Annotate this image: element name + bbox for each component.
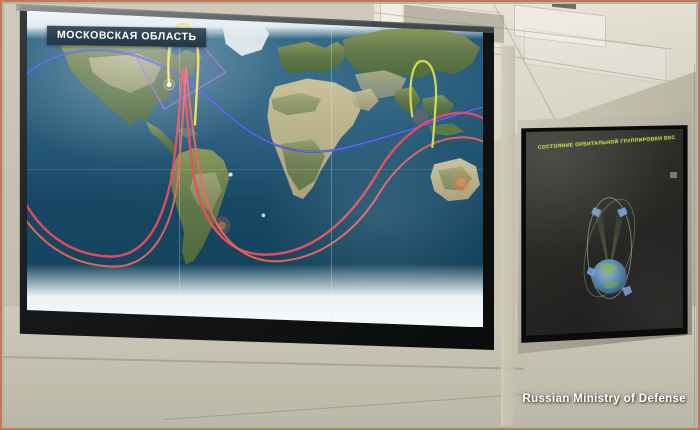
scene-root: МОСКОВСКАЯ ОБЛАСТЬ СОСТОЯНИЕ ОРБИТАЛЬНОЙ… xyxy=(4,4,696,426)
status-panel-screen[interactable]: СОСТОЯНИЕ ОРБИТАЛЬНОЙ ГРУППИРОВКИ ВКС xyxy=(526,129,684,336)
world-map xyxy=(27,11,484,328)
wall-seam-vertical xyxy=(694,64,695,426)
location-banner: МОСКОВСКАЯ ОБЛАСТЬ xyxy=(47,26,206,47)
globe-icon xyxy=(570,179,649,316)
screenshot-frame: МОСКОВСКАЯ ОБЛАСТЬ СОСТОЯНИЕ ОРБИТАЛЬНОЙ… xyxy=(0,0,700,430)
earth-orbit-graphic xyxy=(570,179,649,316)
wall-pillar xyxy=(501,46,515,426)
orbital-ground-tracks xyxy=(27,11,484,328)
status-panel-corner-marker xyxy=(670,172,677,178)
status-display-panel[interactable]: СОСТОЯНИЕ ОРБИТАЛЬНОЙ ГРУППИРОВКИ ВКС xyxy=(516,112,692,354)
map-display[interactable]: МОСКОВСКАЯ ОБЛАСТЬ xyxy=(27,11,484,328)
video-wall-map[interactable]: МОСКОВСКАЯ ОБЛАСТЬ xyxy=(16,4,494,350)
broadcaster-watermark: Russian Ministry of Defense xyxy=(523,393,686,405)
